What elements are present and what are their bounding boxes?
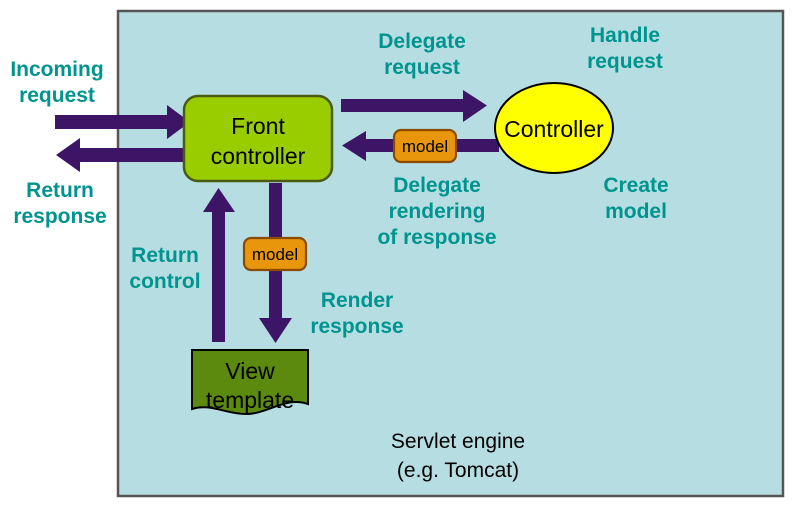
node-view-template[interactable]: View template — [192, 350, 308, 414]
annotation-create-model-line1: Create — [603, 174, 668, 197]
annotation-return-response-line2: response — [13, 205, 106, 228]
annotation-create-model-line2: model — [605, 200, 667, 223]
annotation-delegate-rendering-line2: rendering — [389, 200, 486, 223]
annotation-return-response-line1: Return — [26, 179, 94, 202]
annotation-return-control-line1: Return — [131, 244, 199, 267]
annotation-render-response-line2: response — [310, 315, 403, 338]
model-badge-view-label: model — [252, 245, 298, 264]
node-controller[interactable]: Controller — [495, 83, 613, 173]
annotation-incoming-request-line1: Incoming — [10, 58, 103, 81]
annotation-incoming-request-line2: request — [19, 84, 95, 107]
annotation-handle-request-line2: request — [587, 50, 663, 73]
servlet-engine-caption-line1: Servlet engine — [391, 430, 525, 453]
annotation-delegate-request-line2: request — [384, 56, 460, 79]
annotation-delegate-rendering: Delegate rendering of response — [377, 174, 496, 249]
view-template-label-line2: template — [206, 387, 294, 413]
view-template-label-line1: View — [225, 358, 275, 384]
diagram-canvas: Front controller Controller View templat… — [0, 0, 800, 513]
annotation-handle-request-line1: Handle — [590, 24, 660, 47]
controller-label: Controller — [504, 116, 604, 142]
annotation-delegate-rendering-line3: of response — [377, 226, 496, 249]
model-badge-controller[interactable]: model — [394, 130, 456, 162]
model-badge-view[interactable]: model — [244, 238, 306, 270]
servlet-engine-caption-line2: (e.g. Tomcat) — [397, 459, 519, 482]
front-controller-label-line1: Front — [231, 113, 285, 139]
annotation-delegate-request-line1: Delegate — [378, 30, 466, 53]
front-controller-label-line2: controller — [211, 143, 306, 169]
model-badge-controller-label: model — [402, 137, 448, 156]
node-front-controller[interactable]: Front controller — [184, 96, 332, 181]
annotation-render-response-line1: Render — [321, 289, 393, 312]
annotation-return-control-line2: control — [129, 270, 200, 293]
annotation-delegate-rendering-line1: Delegate — [393, 174, 481, 197]
